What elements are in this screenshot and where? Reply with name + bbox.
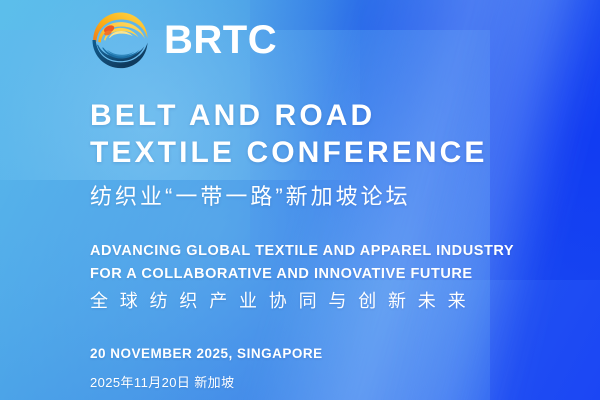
tagline: ADVANCING GLOBAL TEXTILE AND APPAREL IND…	[90, 240, 514, 287]
headline-line-1: BELT AND ROAD	[90, 99, 375, 132]
brtc-circular-swirl-logo-icon	[88, 8, 152, 72]
headline-line-2: TEXTILE CONFERENCE	[90, 135, 488, 172]
tagline-line-2: FOR A COLLABORATIVE AND INNOVATIVE FUTUR…	[90, 263, 514, 286]
tagline-chinese: 全 球 纺 织 产 业 协 同 与 创 新 未 来	[90, 290, 469, 313]
brand-wordmark: BRTC	[164, 20, 277, 60]
headline-chinese: 纺织业“一带一路”新加坡论坛	[90, 183, 411, 212]
brand-lockup: BRTC	[88, 8, 277, 72]
event-date-venue-english: 20 NOVEMBER 2025, SINGAPORE	[90, 346, 323, 361]
conference-poster: BRTC BELT AND ROAD TEXTILE CONFERENCE 纺织…	[0, 0, 600, 400]
event-date-venue-chinese: 2025年11月20日 新加坡	[90, 372, 235, 391]
tagline-line-1: ADVANCING GLOBAL TEXTILE AND APPAREL IND…	[90, 243, 514, 259]
page-title: BELT AND ROAD TEXTILE CONFERENCE	[90, 98, 488, 171]
